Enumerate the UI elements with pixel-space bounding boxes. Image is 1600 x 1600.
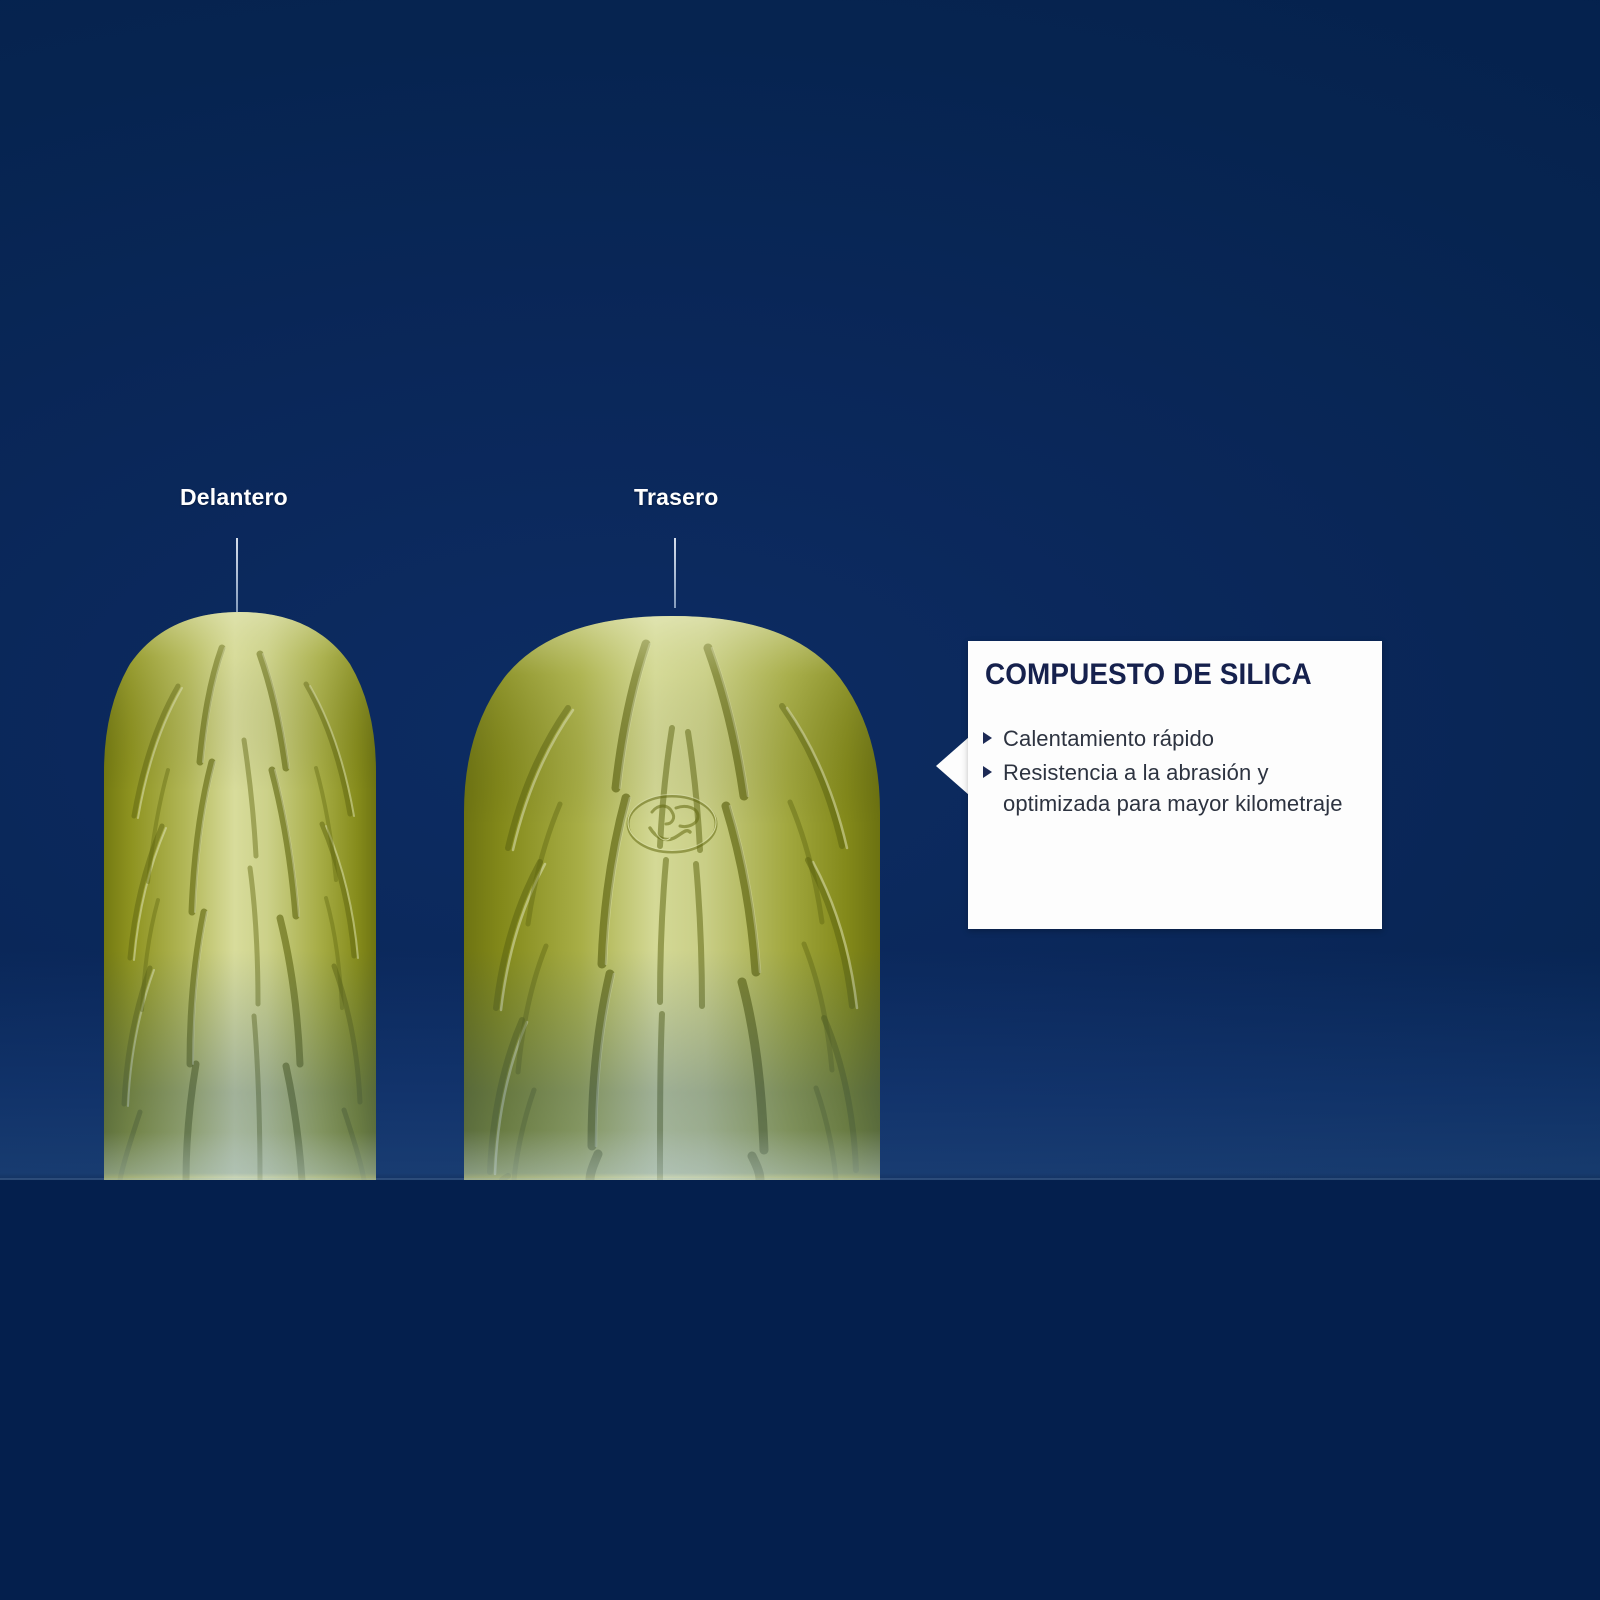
- photo-region-bottom-edge: [0, 1178, 1600, 1180]
- rear-tire-label: Trasero: [634, 484, 719, 511]
- rear-tire-graphic: [460, 616, 884, 1180]
- front-tire-leader-line: [236, 538, 238, 612]
- callout-tail: [936, 737, 969, 795]
- front-tire-label: Delantero: [180, 484, 288, 511]
- silica-compound-callout: COMPUESTO DE SILICA Calentamiento rápido: [968, 641, 1382, 929]
- bullet-text: Resistencia a la abrasión y optimizada p…: [1003, 757, 1366, 819]
- callout-bullet-list: Calentamiento rápido Resistencia a la ab…: [983, 723, 1366, 822]
- triangle-bullet-icon: [983, 766, 992, 778]
- front-tire-graphic: [104, 612, 376, 1180]
- list-item: Calentamiento rápido: [983, 723, 1366, 754]
- rear-tire-leader-line: [674, 538, 676, 608]
- rear-tire: [460, 616, 884, 1180]
- callout-title: COMPUESTO DE SILICA: [985, 658, 1312, 692]
- triangle-bullet-icon: [983, 732, 992, 744]
- product-photo-region: Delantero Trasero COMPUESTO DE SILICA Ca…: [0, 0, 1600, 1180]
- list-item: Resistencia a la abrasión y optimizada p…: [983, 757, 1366, 819]
- infographic-canvas: Delantero Trasero COMPUESTO DE SILICA Ca…: [0, 0, 1600, 1600]
- bullet-text: Calentamiento rápido: [1003, 723, 1214, 754]
- front-tire: [104, 612, 376, 1180]
